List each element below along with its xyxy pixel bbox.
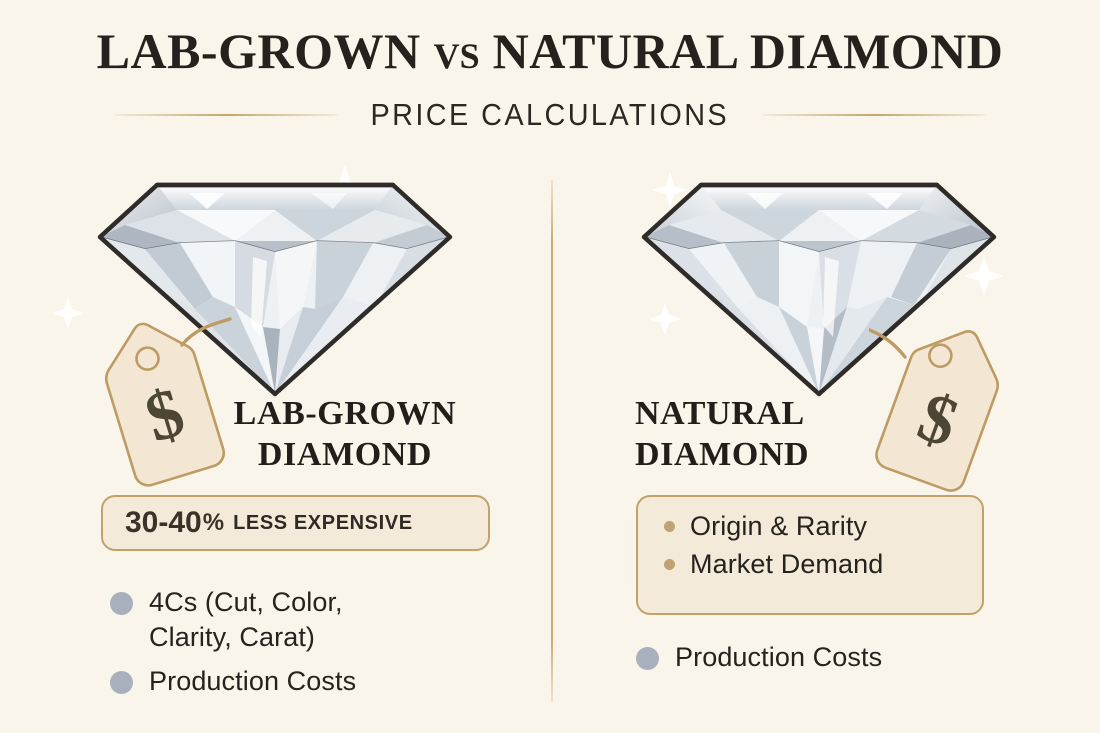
badge-figure: 30-40	[125, 506, 202, 540]
bullet-label: 4Cs (Cut, Color, Clarity, Carat)	[149, 585, 343, 654]
tag-string	[182, 319, 230, 345]
badge-percent-symbol: %	[203, 509, 224, 537]
heading-line-1: NATURAL	[635, 393, 965, 434]
factors-box-natural: Origin & Rarity Market Demand	[636, 495, 984, 615]
list-item: 4Cs (Cut, Color, Clarity, Carat)	[110, 585, 530, 654]
panel-lab-grown: $ LAB-GROWN DIAMOND 30-40 % LESS EXPENSI…	[0, 145, 551, 733]
bullet-dot-icon	[110, 671, 133, 694]
subtitle-row: PRICE CALCULATIONS	[0, 97, 1100, 133]
rule-right	[763, 114, 985, 116]
page-title: LAB-GROWN VS NATURAL DIAMOND	[0, 26, 1100, 76]
infographic-poster: LAB-GROWN VS NATURAL DIAMOND PRICE CALCU…	[0, 0, 1100, 733]
bullet-label: Market Demand	[690, 549, 883, 580]
badge-label: LESS EXPENSIVE	[233, 512, 413, 535]
heading-line-2: DIAMOND	[180, 434, 510, 475]
tag-string	[869, 329, 905, 357]
bullet-dot-icon	[664, 521, 675, 532]
list-item: Production Costs	[636, 640, 1066, 675]
bullet-label: Production Costs	[149, 664, 356, 699]
list-item: Origin & Rarity	[664, 511, 982, 542]
bullet-dot-icon	[636, 647, 659, 670]
badge-less-expensive: 30-40 % LESS EXPENSIVE	[101, 495, 490, 551]
panel-natural: $ NATURAL DIAMOND Origin & Rarity Market…	[551, 145, 1100, 733]
title-vs: VS	[434, 36, 480, 76]
bullet-dot-icon	[664, 559, 675, 570]
list-item: Production Costs	[110, 664, 530, 699]
title-part-2: NATURAL DIAMOND	[493, 23, 1004, 79]
rule-left	[115, 114, 337, 116]
heading-natural: NATURAL DIAMOND	[635, 393, 965, 476]
bullet-dot-icon	[110, 592, 133, 615]
heading-lab-grown: LAB-GROWN DIAMOND	[180, 393, 510, 476]
title-part-1: LAB-GROWN	[97, 23, 421, 79]
sparkle-icon	[52, 297, 84, 329]
bullet-list-natural: Production Costs	[636, 640, 1066, 685]
bullet-label: Origin & Rarity	[690, 511, 867, 542]
heading-line-1: LAB-GROWN	[180, 393, 510, 434]
page-subtitle: PRICE CALCULATIONS	[371, 97, 730, 133]
bullet-label: Production Costs	[675, 640, 882, 675]
list-item: Market Demand	[664, 549, 982, 580]
header: LAB-GROWN VS NATURAL DIAMOND PRICE CALCU…	[0, 0, 1100, 145]
heading-line-2: DIAMOND	[635, 434, 965, 475]
bullet-list-lab-grown: 4Cs (Cut, Color, Clarity, Carat) Product…	[110, 585, 530, 709]
